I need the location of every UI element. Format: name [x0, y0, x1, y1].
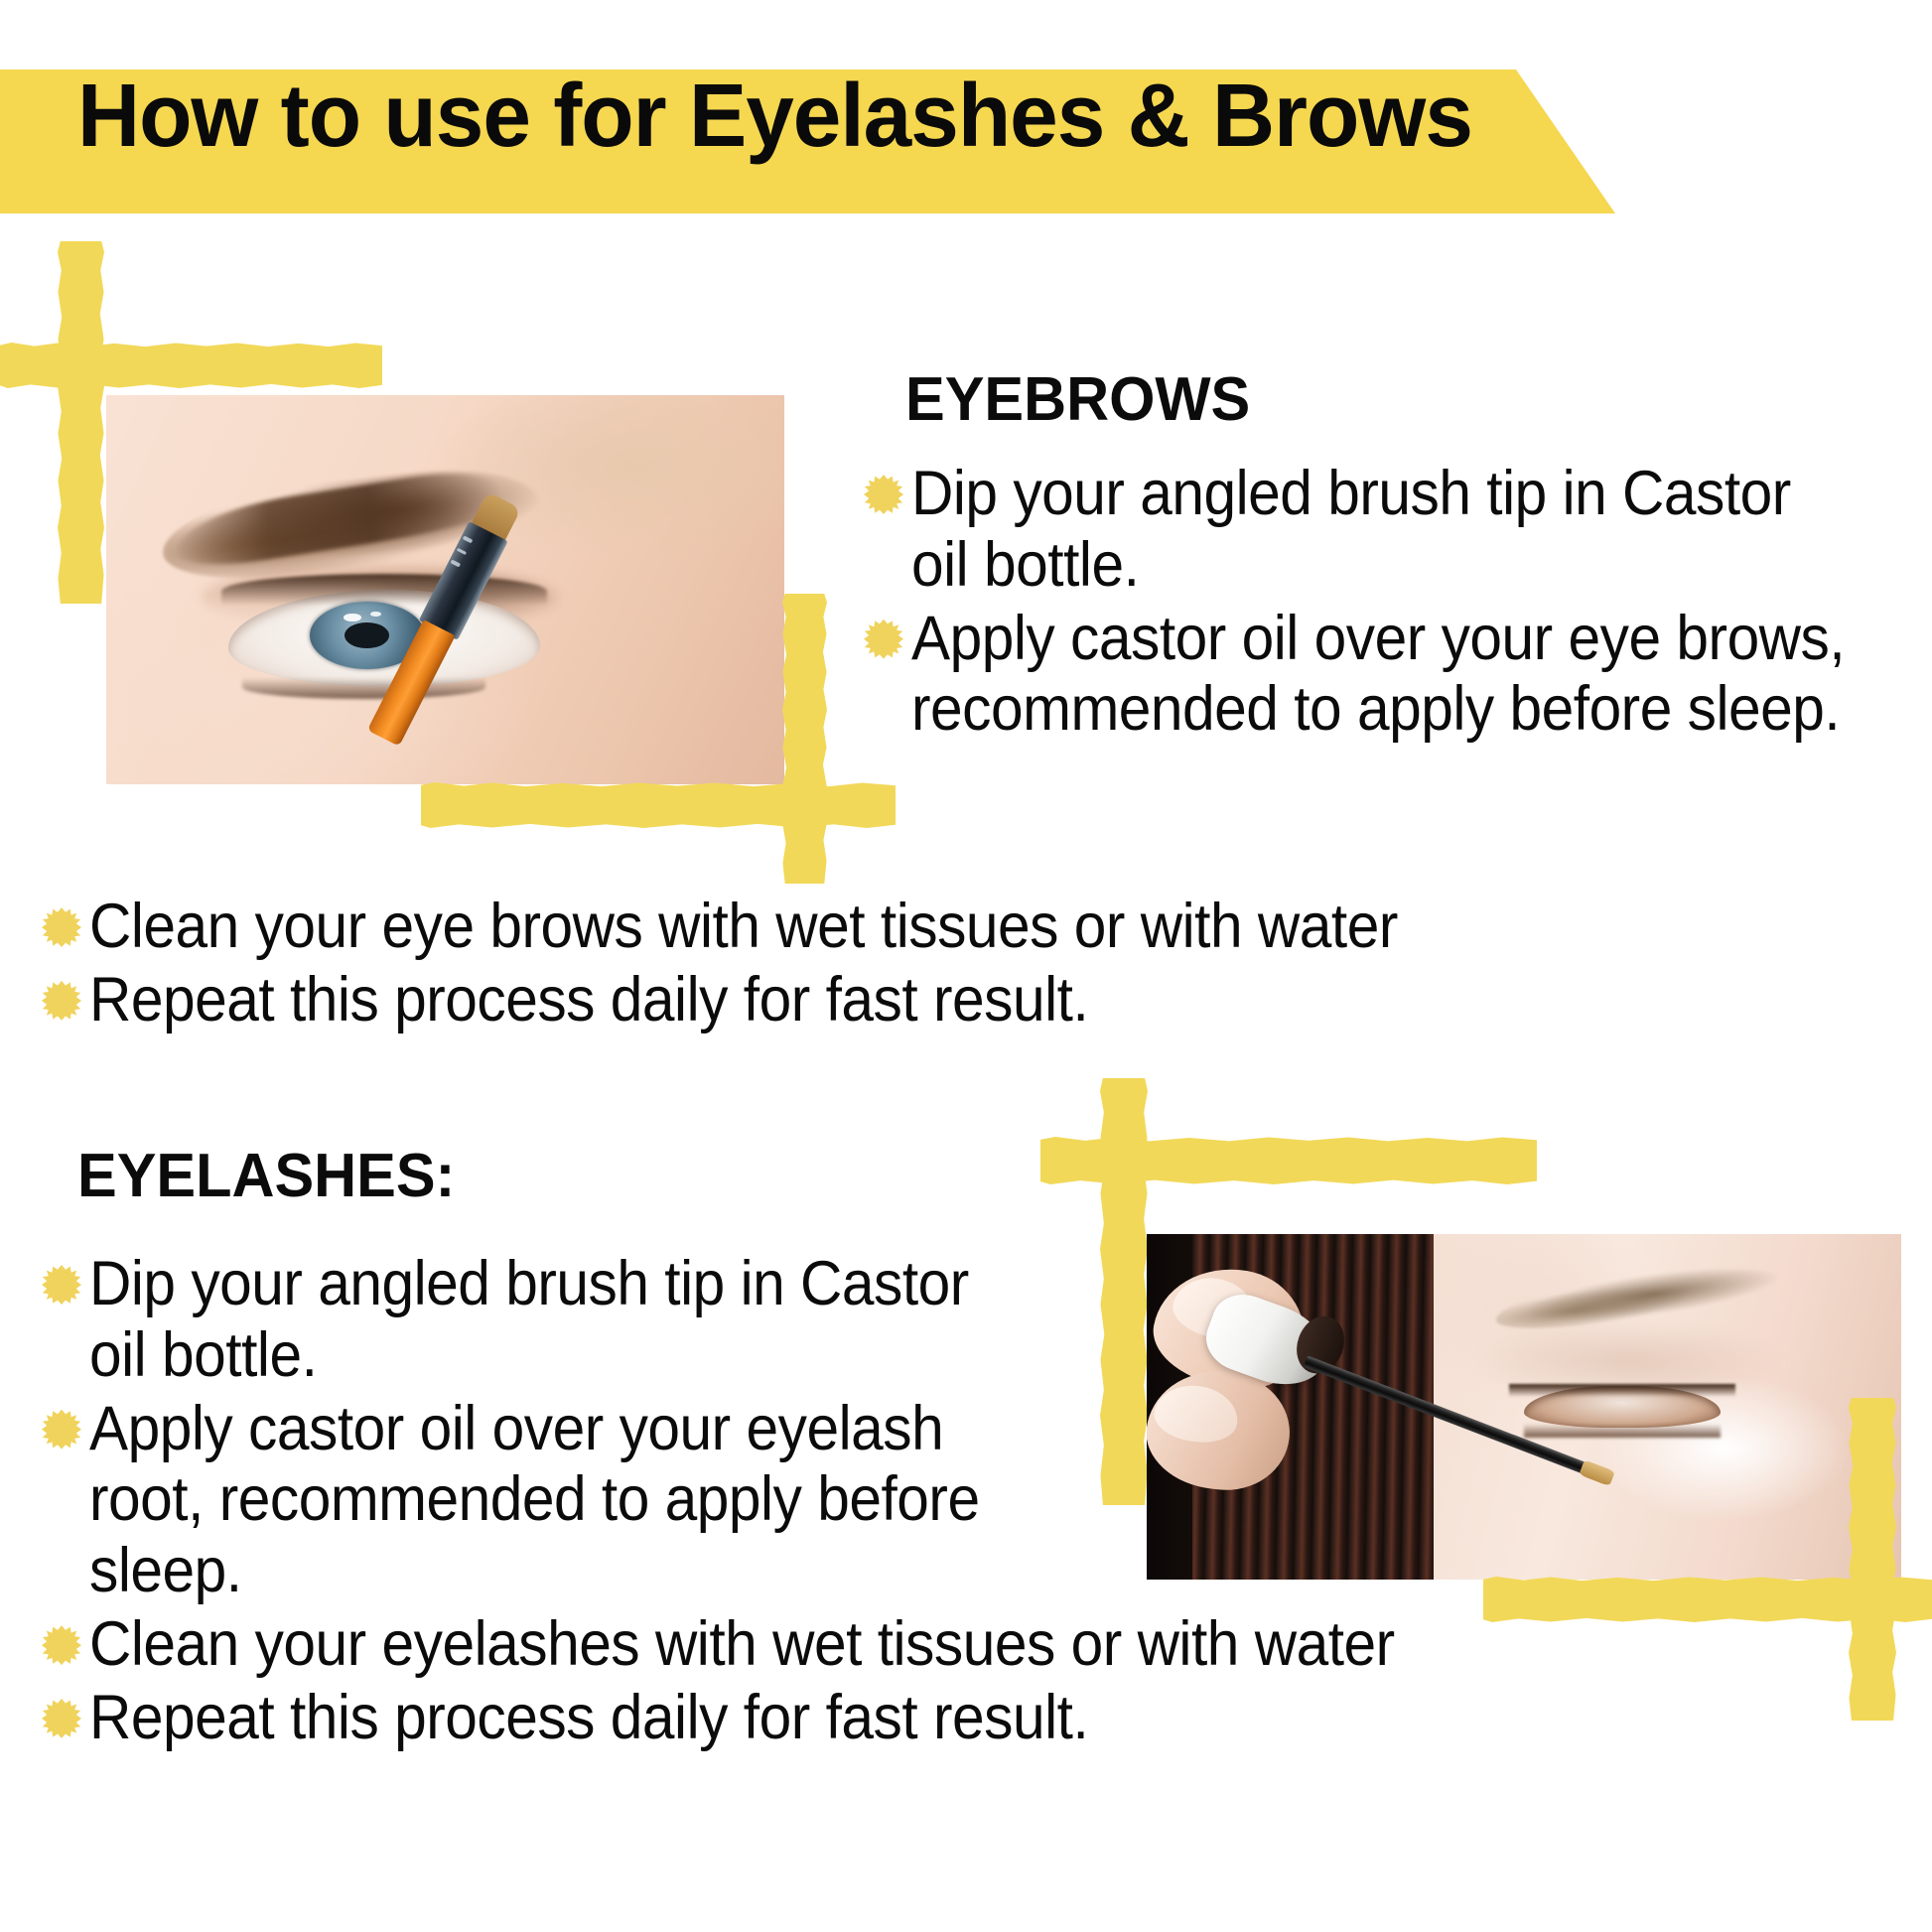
- list-item-label: Repeat this process daily for fast resul…: [89, 965, 1088, 1036]
- eyelash-photo: [1147, 1234, 1901, 1580]
- bullet-splatter-icon: [42, 907, 81, 947]
- bullet-splatter-icon: [42, 1625, 81, 1665]
- bullet-splatter-icon: [864, 475, 903, 514]
- bullet-splatter-icon: [42, 981, 81, 1021]
- brush-stroke-vertical: [782, 594, 827, 884]
- iris: [1570, 1393, 1626, 1420]
- brush-stroke-horizontal: [0, 343, 382, 388]
- eye-highlight: [344, 614, 361, 622]
- infographic-page: How to use for Eyelashes & Brows EYEB: [0, 0, 1932, 1932]
- list-item-label: Clean your eyelashes with wet tissues or…: [89, 1609, 1395, 1681]
- list-item-label: Clean your eye brows with wet tissues or…: [89, 892, 1398, 963]
- list-item: Clean your eyelashes with wet tissues or…: [42, 1609, 1104, 1681]
- pupil: [345, 622, 388, 648]
- bullet-splatter-icon: [42, 1265, 81, 1305]
- bullet-splatter-icon: [42, 1699, 81, 1738]
- eyebrows-wide-bullet-list: Clean your eye brows with wet tissues or…: [42, 892, 1888, 1038]
- list-item-label: Dip your angled brush tip in Castor oil …: [89, 1249, 1033, 1392]
- list-item-label: Repeat this process daily for fast resul…: [89, 1683, 1088, 1754]
- list-item: Dip your angled brush tip in Castor oil …: [42, 1249, 1104, 1392]
- list-item: Dip your angled brush tip in Castor oil …: [864, 459, 1916, 602]
- list-item: Apply castor oil over your eyelash root,…: [42, 1394, 1104, 1607]
- upper-lashes: [221, 574, 547, 609]
- upper-lash-line: [1509, 1384, 1735, 1396]
- eyebrows-heading: EYEBROWS: [905, 369, 1250, 431]
- brush-stroke-horizontal: [1040, 1137, 1537, 1184]
- eyebrow-photo: [106, 395, 784, 784]
- list-item-label: Dip your angled brush tip in Castor oil …: [911, 459, 1846, 602]
- brush-stroke-vertical: [1849, 1398, 1896, 1721]
- brush-stroke-horizontal: [421, 782, 896, 828]
- list-item-label: Apply castor oil over your eyelash root,…: [89, 1394, 1033, 1607]
- lower-lashes: [242, 675, 486, 699]
- eyebrows-bullet-list: Dip your angled brush tip in Castor oil …: [864, 459, 1916, 748]
- bullet-splatter-icon: [42, 1410, 81, 1449]
- brush-stroke-horizontal: [1483, 1577, 1932, 1622]
- eyelashes-bullet-list: Dip your angled brush tip in Castor oil …: [42, 1249, 1104, 1756]
- list-item: Apply castor oil over your eye brows, re…: [864, 604, 1916, 747]
- list-item-label: Apply castor oil over your eye brows, re…: [911, 604, 1846, 747]
- lower-lashes: [1524, 1424, 1721, 1438]
- eye-highlight-small: [370, 612, 381, 617]
- eyelashes-heading: EYELASHES:: [77, 1146, 455, 1207]
- list-item: Clean your eye brows with wet tissues or…: [42, 892, 1888, 963]
- page-title: How to use for Eyelashes & Brows: [77, 71, 1472, 161]
- list-item: Repeat this process daily for fast resul…: [42, 965, 1888, 1036]
- bullet-splatter-icon: [864, 620, 903, 659]
- list-item: Repeat this process daily for fast resul…: [42, 1683, 1104, 1754]
- brush-stroke-vertical: [58, 241, 104, 604]
